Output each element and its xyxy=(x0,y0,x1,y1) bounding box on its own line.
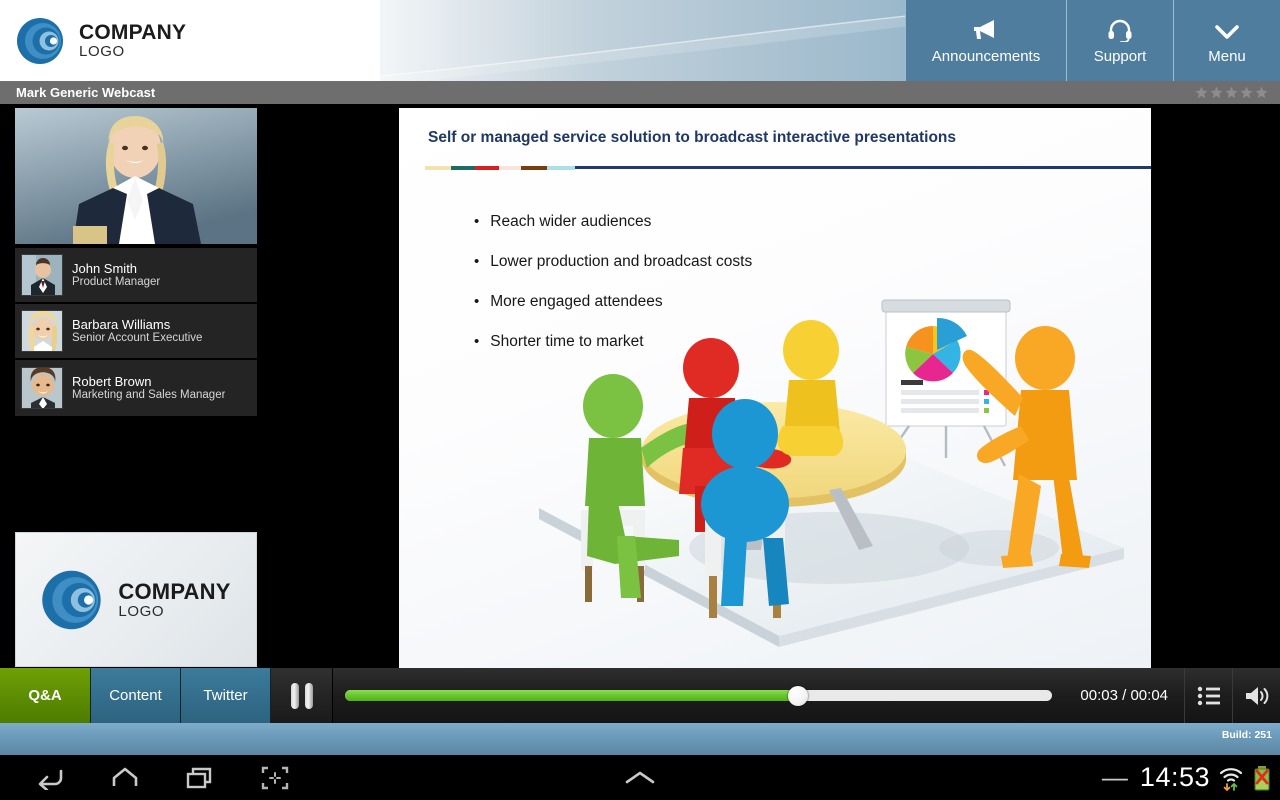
sponsor-logo: COMPANY LOGO xyxy=(41,567,230,633)
chevron-down-icon xyxy=(1213,16,1241,42)
pause-icon xyxy=(291,683,299,709)
webcast-title: Mark Generic Webcast xyxy=(16,85,155,100)
back-button[interactable] xyxy=(12,755,87,800)
progress-bar[interactable] xyxy=(345,690,1052,701)
sponsor-logo-line2: LOGO xyxy=(118,604,230,619)
company-logo[interactable]: COMPANY LOGO xyxy=(0,0,380,81)
nav-button-announcements[interactable]: Announcements xyxy=(905,0,1066,81)
avatar xyxy=(21,310,63,352)
stage: John Smith Product Manager xyxy=(0,104,1280,668)
home-button[interactable] xyxy=(87,755,162,800)
chevron-up-icon xyxy=(623,769,657,787)
pause-button[interactable] xyxy=(271,668,333,723)
headset-icon xyxy=(1107,16,1133,42)
rule-segment xyxy=(547,166,575,170)
company-logo-icon xyxy=(41,567,107,633)
star-icon[interactable] xyxy=(1195,86,1208,99)
sponsor-logo-panel[interactable]: COMPANY LOGO xyxy=(15,532,257,667)
megaphone-icon xyxy=(971,16,1001,42)
bullet-marker: • xyxy=(474,253,479,270)
wifi-icon[interactable] xyxy=(1218,765,1244,791)
speaker-meta: Barbara Williams Senior Account Executiv… xyxy=(72,317,202,346)
slide-viewer[interactable]: Self or managed service solution to broa… xyxy=(399,108,1151,668)
rule-line xyxy=(575,166,1151,169)
presenter-video-image xyxy=(15,108,257,244)
speaker-item[interactable]: John Smith Product Manager xyxy=(15,248,257,302)
nav-button-support[interactable]: Support xyxy=(1066,0,1173,81)
app-header: COMPANY LOGO Announcements xyxy=(0,0,1280,81)
company-logo-text: COMPANY LOGO xyxy=(79,22,186,59)
screenshot-button[interactable] xyxy=(237,755,312,800)
bullet-item: • Lower production and broadcast costs xyxy=(474,253,752,271)
screenshot-icon xyxy=(260,765,290,791)
home-icon xyxy=(110,766,140,790)
nav-label-menu: Menu xyxy=(1208,48,1246,65)
star-icon[interactable] xyxy=(1210,86,1223,99)
tab-qa[interactable]: Q&A xyxy=(0,668,91,723)
build-label: Build: 251 xyxy=(1222,729,1272,741)
time-display: 00:03 / 00:04 xyxy=(1064,668,1184,723)
tab-twitter[interactable]: Twitter xyxy=(181,668,271,723)
nav-button-menu[interactable]: Menu xyxy=(1173,0,1280,81)
slide-rule xyxy=(425,165,1151,170)
rule-segment xyxy=(475,166,499,170)
expand-handle[interactable] xyxy=(610,755,670,800)
progress-thumb[interactable] xyxy=(788,686,808,706)
rule-segment xyxy=(425,166,451,170)
sponsor-logo-text: COMPANY LOGO xyxy=(118,581,230,619)
player-controls: Q&A Content Twitter 00:03 / 00:04 xyxy=(0,668,1280,723)
speaker-role: Marketing and Sales Manager xyxy=(72,389,225,403)
bullet-marker: • xyxy=(474,293,479,310)
speaker-meta: John Smith Product Manager xyxy=(72,261,160,290)
system-status-area: — 14:53 xyxy=(1102,755,1272,800)
speaker-role: Senior Account Executive xyxy=(72,332,202,346)
minimize-icon[interactable]: — xyxy=(1102,762,1132,793)
rule-segment xyxy=(521,166,547,170)
star-icon[interactable] xyxy=(1255,86,1268,99)
speaker-name: John Smith xyxy=(72,261,160,276)
nav-label-support: Support xyxy=(1094,48,1147,65)
android-system-bar: — 14:53 xyxy=(0,755,1280,800)
speaker-meta: Robert Brown Marketing and Sales Manager xyxy=(72,374,225,403)
footer-strip: Build: 251 xyxy=(0,723,1280,755)
system-nav-buttons xyxy=(12,755,312,800)
speaker-role: Product Manager xyxy=(72,276,160,290)
logo-line1: COMPANY xyxy=(79,22,186,43)
battery-error-icon[interactable] xyxy=(1252,765,1272,791)
pause-icon xyxy=(305,683,313,709)
bullet-item: • Reach wider audiences xyxy=(474,213,752,231)
recents-icon xyxy=(185,766,215,790)
header-nav: Announcements Support xyxy=(905,0,1280,81)
rating-stars[interactable] xyxy=(1195,86,1274,99)
nav-label-announcements: Announcements xyxy=(932,48,1040,65)
sponsor-logo-line1: COMPANY xyxy=(118,581,230,603)
webcast-title-bar: Mark Generic Webcast xyxy=(0,81,1280,104)
star-icon[interactable] xyxy=(1225,86,1238,99)
rule-segment xyxy=(451,166,475,170)
speaker-list: John Smith Product Manager xyxy=(15,248,257,418)
volume-button[interactable] xyxy=(1232,668,1280,723)
speaker-item[interactable]: Barbara Williams Senior Account Executiv… xyxy=(15,304,257,358)
bullet-marker: • xyxy=(474,213,479,230)
webcast-player-app: COMPANY LOGO Announcements xyxy=(0,0,1280,800)
system-clock: 14:53 xyxy=(1140,762,1210,793)
tab-content[interactable]: Content xyxy=(91,668,181,723)
star-icon[interactable] xyxy=(1240,86,1253,99)
presenter-video-pane[interactable] xyxy=(15,108,257,244)
bullet-text: Reach wider audiences xyxy=(490,213,651,231)
back-icon xyxy=(35,766,65,790)
bullet-marker: • xyxy=(474,333,479,350)
bullet-text: Lower production and broadcast costs xyxy=(490,253,752,271)
avatar xyxy=(21,254,63,296)
slide-title: Self or managed service solution to broa… xyxy=(428,128,1127,147)
speaker-item[interactable]: Robert Brown Marketing and Sales Manager xyxy=(15,360,257,416)
progress-fill xyxy=(345,690,798,701)
company-logo-icon xyxy=(16,15,68,67)
recents-button[interactable] xyxy=(162,755,237,800)
logo-line2: LOGO xyxy=(79,44,186,59)
progress-area xyxy=(333,668,1064,723)
rule-segment xyxy=(499,166,521,170)
playlist-icon xyxy=(1197,686,1221,706)
speaker-name: Robert Brown xyxy=(72,374,225,389)
volume-icon xyxy=(1244,685,1270,707)
playlist-button[interactable] xyxy=(1184,668,1232,723)
speaker-name: Barbara Williams xyxy=(72,317,202,332)
avatar xyxy=(21,367,63,409)
meeting-presentation-illustration xyxy=(529,298,1129,668)
